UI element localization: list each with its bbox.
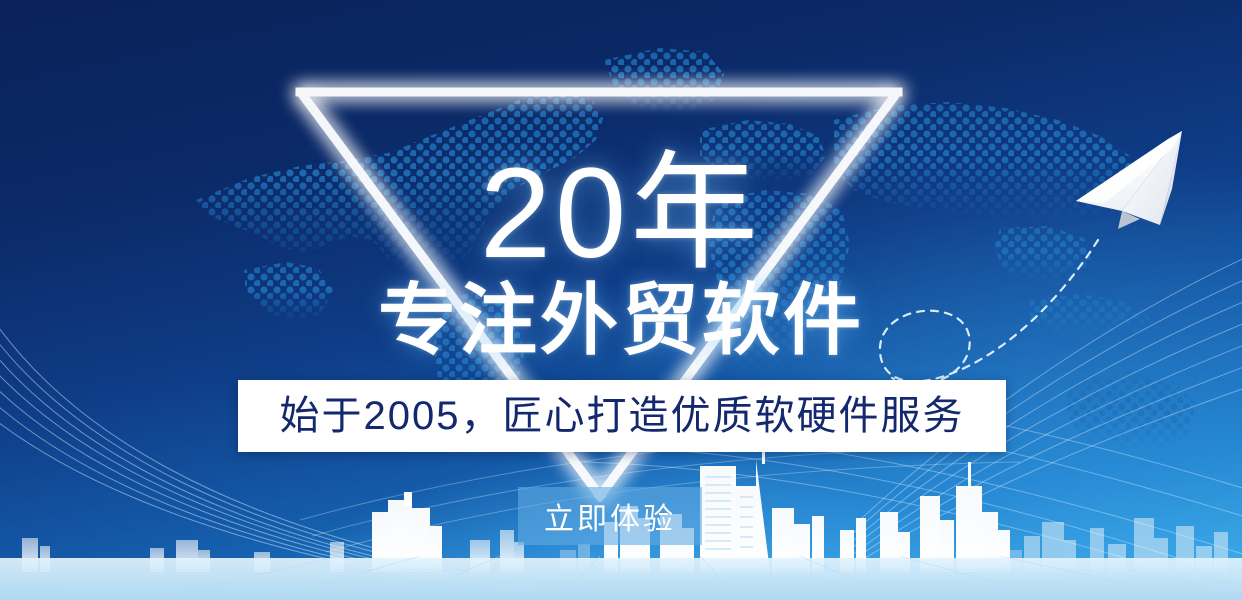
headline-years: 20年 [0,150,1242,278]
cta-button[interactable]: 立即体验 [518,487,702,545]
headline-main: 专注外贸软件 [0,278,1242,362]
banner-content: 20年 专注外贸软件 始于2005，匠心打造优质软硬件服务 立即体验 [0,0,1242,600]
promo-banner: 20年 专注外贸软件 始于2005，匠心打造优质软硬件服务 立即体验 [0,0,1242,600]
subtitle-text: 始于2005，匠心打造优质软硬件服务 [280,394,965,438]
subtitle-box: 始于2005，匠心打造优质软硬件服务 [238,380,1006,452]
